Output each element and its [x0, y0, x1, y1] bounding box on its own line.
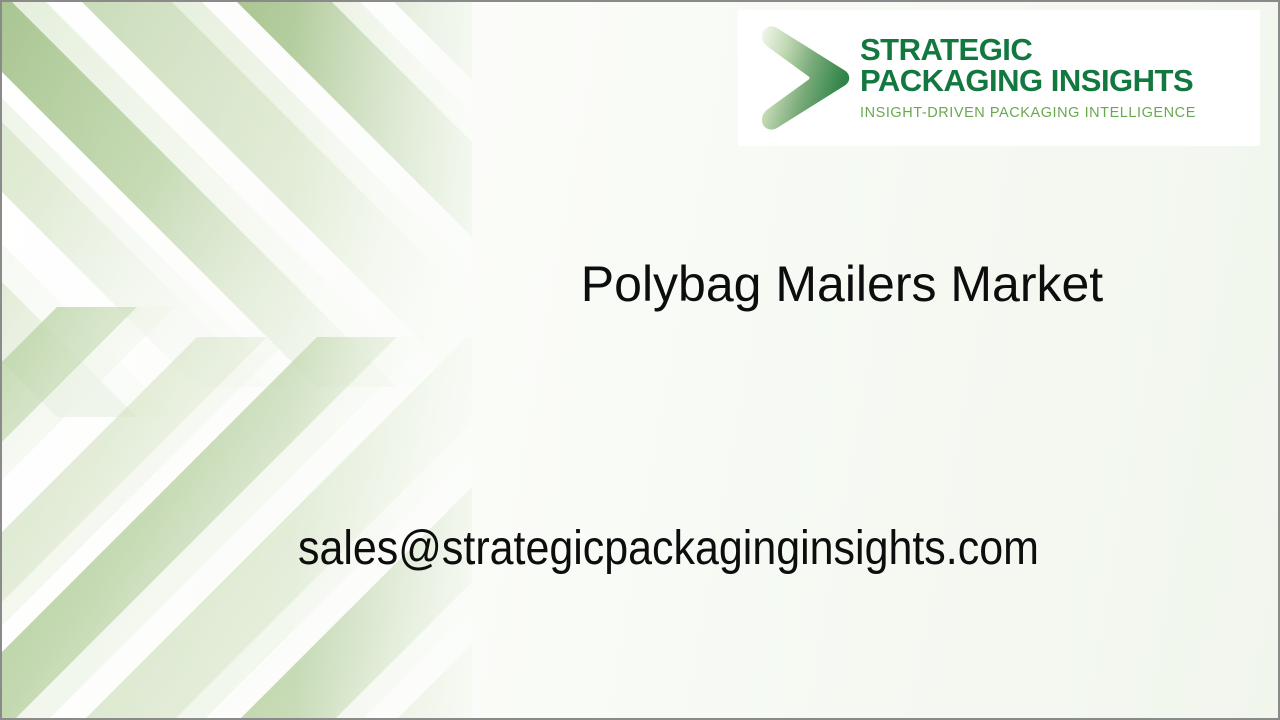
logo-line-1: STRATEGIC: [860, 35, 1256, 65]
presentation-slide: STRATEGIC PACKAGING INSIGHTS INSIGHT-DRI…: [0, 0, 1280, 720]
chevron-stripes-svg: [2, 2, 472, 720]
logo-tagline: INSIGHT-DRIVEN PACKAGING INTELLIGENCE: [860, 105, 1256, 121]
page-title: Polybag Mailers Market: [542, 258, 1142, 310]
company-logo: STRATEGIC PACKAGING INSIGHTS INSIGHT-DRI…: [738, 10, 1260, 146]
logo-wordmark: STRATEGIC PACKAGING INSIGHTS INSIGHT-DRI…: [852, 35, 1260, 121]
logo-line-2: PACKAGING INSIGHTS: [860, 66, 1256, 96]
chevron-stripes-graphic: [2, 2, 472, 720]
contact-email: sales@strategicpackaginginsights.com: [298, 523, 1039, 576]
chevron-arrow-mark-icon: [744, 16, 852, 140]
